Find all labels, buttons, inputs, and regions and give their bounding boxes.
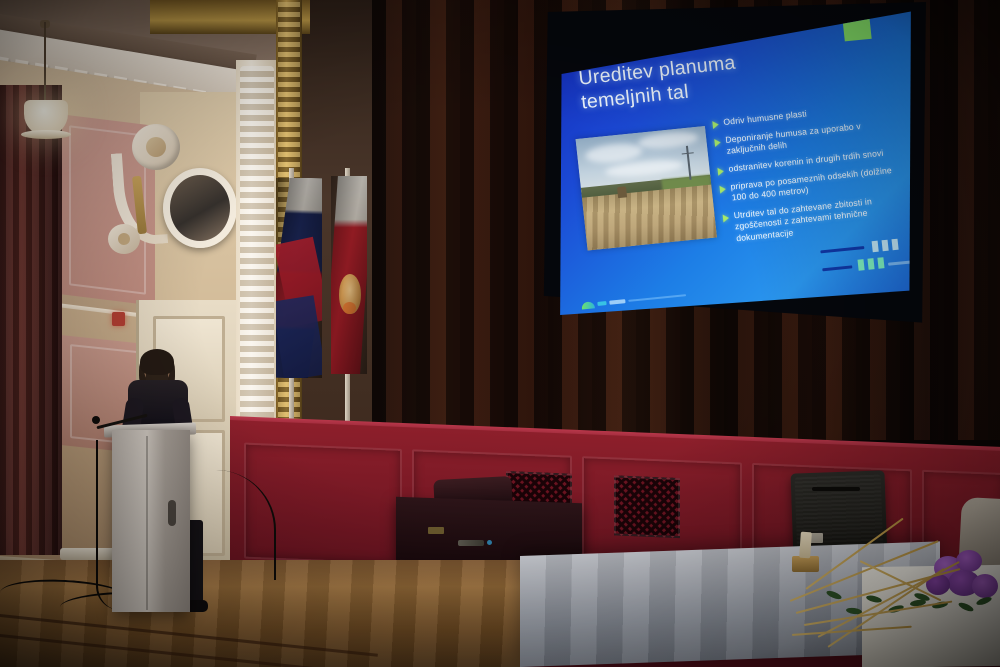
slide-bullet-list: Odriv humusne plasti Deponiranje humusa … [712,100,904,252]
slide-brand-graphic [820,236,911,281]
piano-led-icon [487,540,492,545]
exit-light-icon [112,312,125,326]
bullet-triangle-icon [719,185,726,194]
microphone-icon [92,416,100,424]
presenter-hair-top [140,349,174,375]
lectern-handle[interactable] [168,500,176,526]
logo-wordmark [609,299,625,305]
lamp-rim [21,130,71,139]
logo-mark-secondary-icon [597,301,606,306]
bullet-triangle-icon [717,167,724,176]
photo-mound [617,186,627,198]
municipal-flag [331,176,367,374]
bullet-triangle-icon [723,214,730,223]
flower-arrangement [918,548,1000,626]
bullet-triangle-icon [714,138,721,147]
candle [799,532,812,559]
slovenian-flag [276,178,322,378]
logo-mark-icon [581,301,595,309]
slide-photo [576,126,717,251]
foliage-leaf [975,595,992,606]
oval-mirror [163,168,237,248]
photograph-scene: Ureditev planuma temeljnih tal [0,0,1000,667]
piano-badge [428,527,444,534]
slide-logo [581,289,701,311]
window-curtain [0,85,62,555]
lamp-cord [44,22,46,102]
monitor-vent [812,487,860,491]
bullet-text: Odriv humusne plasti [723,108,808,128]
logo-subtitle-line [628,294,686,302]
projection-screen: Ureditev planuma temeljnih tal [540,2,926,336]
piano-control-knobs[interactable] [458,540,484,546]
bullet-triangle-icon [712,121,719,130]
lectern [112,430,190,612]
candle-holder [792,556,819,572]
flower-petal [972,574,998,598]
foliage-leaf [957,601,974,613]
lectern-seam [146,436,148,610]
stage-vent-grille [614,475,680,538]
